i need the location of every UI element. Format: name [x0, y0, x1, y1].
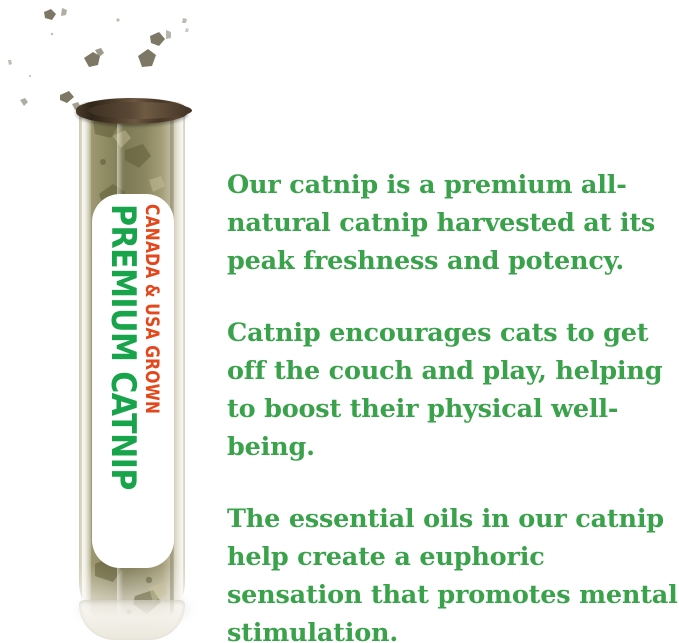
catnip-tube: CANADA & USA GROWN PREMIUM CATNIP — [68, 88, 198, 640]
glass-highlight-right — [173, 102, 183, 628]
tube-cap-top — [88, 102, 192, 119]
product-label: CANADA & USA GROWN PREMIUM CATNIP — [98, 200, 168, 562]
label-origin-text: CANADA & USA GROWN — [141, 204, 162, 414]
label-text-group: CANADA & USA GROWN PREMIUM CATNIP — [98, 200, 168, 562]
product-feature-image: CANADA & USA GROWN PREMIUM CATNIP Our ca… — [0, 0, 679, 643]
label-product-name: PREMIUM CATNIP — [103, 204, 142, 490]
tube-base — [79, 600, 185, 640]
glass-highlight-left — [82, 102, 91, 628]
copy-paragraph-1: Our catnip is a premium all-natural catn… — [227, 166, 679, 280]
copy-paragraph-2: Catnip encourages cats to get off the co… — [227, 314, 679, 466]
copy-paragraph-3: The essential oils in our catnip help cr… — [227, 500, 679, 643]
marketing-copy: Our catnip is a premium all-natural catn… — [227, 166, 679, 643]
tube-cap — [76, 98, 188, 124]
